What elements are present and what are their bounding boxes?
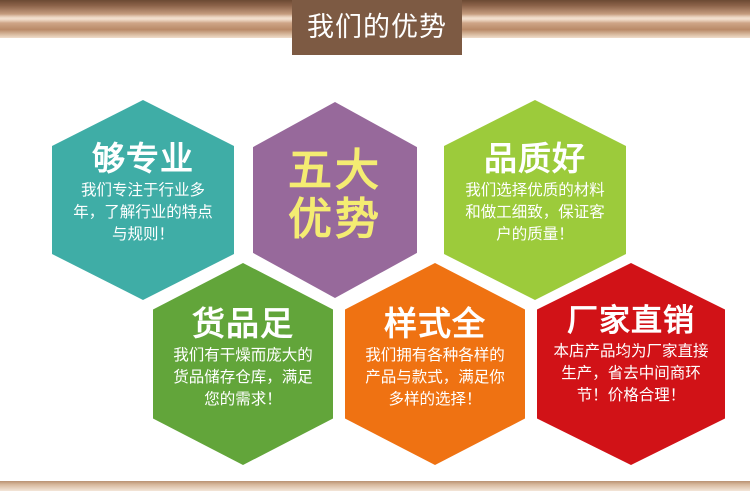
hexagon-style[interactable]: 样式全 我们拥有各种各样的产品与款式，满足你多样的选择！ (345, 263, 525, 465)
center-badge-line1: 五大 (288, 146, 382, 195)
hexagon-quality-desc: 我们选择优质的材料和做工细致，保证客户的质量！ (459, 180, 611, 246)
hexagon-style-title: 样式全 (384, 307, 486, 342)
hexagon-factory-direct[interactable]: 厂家直销 本店产品均为厂家直接生产，省去中间商环节！价格合理！ (537, 263, 725, 465)
hexagon-quality-content: 品质好 我们选择优质的材料和做工细致，保证客户的质量！ (444, 100, 626, 300)
hexagon-quality-title: 品质好 (484, 142, 586, 177)
hexagon-stock-title: 货品足 (192, 307, 294, 342)
hexagon-stock-desc: 我们有干燥而庞大的货品储存仓库，满足您的需求！ (167, 345, 319, 411)
hexagon-professional-title: 够专业 (92, 142, 194, 177)
advantages-infographic: 我们的优势 够专业 我们专注于行业多年，了解行业的特点与规则！ 五大 优势 品质… (0, 0, 750, 491)
page-title: 我们的优势 (307, 14, 447, 41)
hexagon-factory-direct-desc: 本店产品均为厂家直接生产，省去中间商环节！价格合理！ (552, 341, 710, 407)
hexagon-professional[interactable]: 够专业 我们专注于行业多年，了解行业的特点与规则！ (52, 100, 234, 300)
hexagon-stock-content: 货品足 我们有干燥而庞大的货品储存仓库，满足您的需求！ (153, 263, 333, 465)
hexagon-center-content: 五大 优势 (253, 102, 417, 298)
hexagon-factory-direct-content: 厂家直销 本店产品均为厂家直接生产，省去中间商环节！价格合理！ (537, 263, 725, 465)
hexagon-professional-desc: 我们专注于行业多年，了解行业的特点与规则！ (67, 180, 219, 246)
page-title-plate: 我们的优势 (292, 0, 462, 55)
hexagon-factory-direct-title: 厂家直销 (567, 305, 695, 338)
hexagon-quality[interactable]: 品质好 我们选择优质的材料和做工细致，保证客户的质量！ (444, 100, 626, 300)
hexagon-style-content: 样式全 我们拥有各种各样的产品与款式，满足你多样的选择！ (345, 263, 525, 465)
hexagon-stock[interactable]: 货品足 我们有干燥而庞大的货品储存仓库，满足您的需求！ (153, 263, 333, 465)
footer-band (0, 481, 750, 491)
hexagon-professional-content: 够专业 我们专注于行业多年，了解行业的特点与规则！ (52, 100, 234, 300)
hexagon-center-badge[interactable]: 五大 优势 (253, 102, 417, 298)
center-badge-line2: 优势 (288, 195, 382, 244)
hexagon-style-desc: 我们拥有各种各样的产品与款式，满足你多样的选择！ (359, 345, 511, 411)
